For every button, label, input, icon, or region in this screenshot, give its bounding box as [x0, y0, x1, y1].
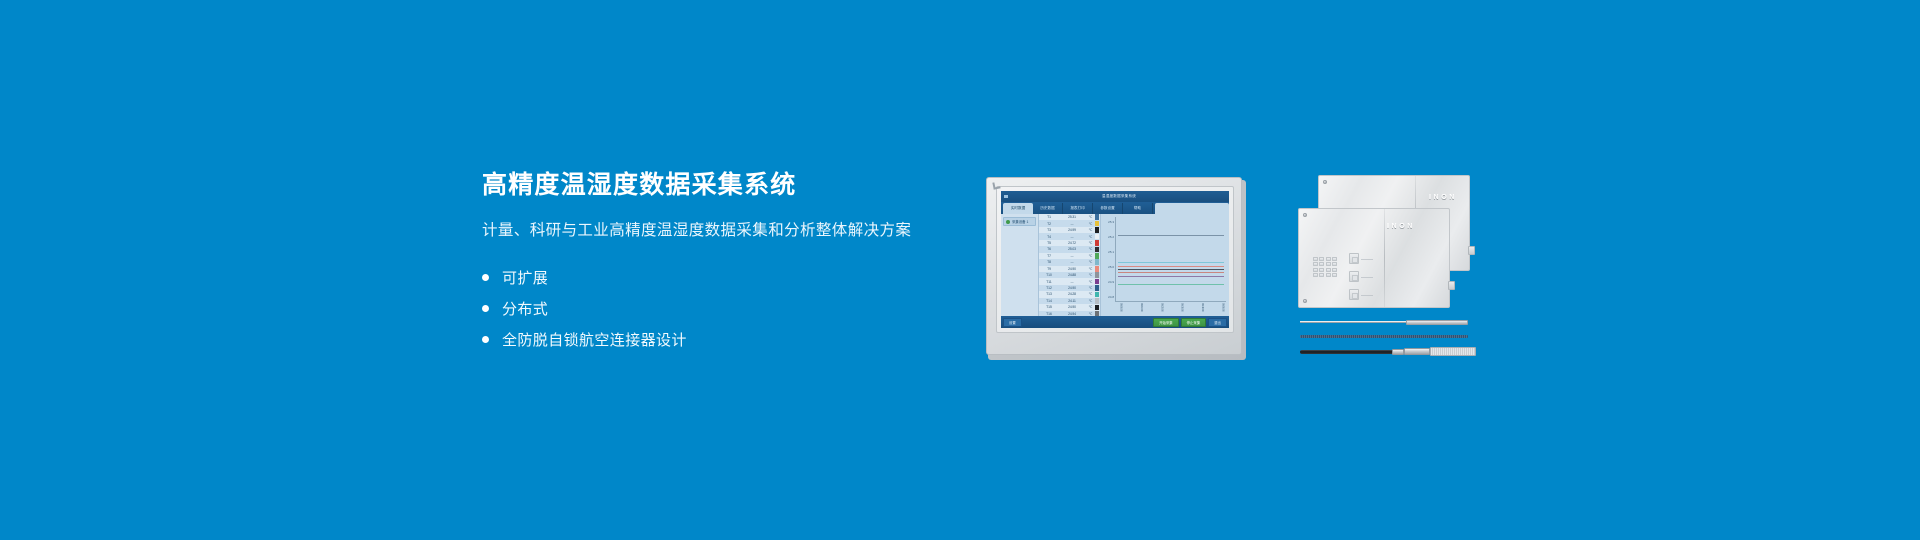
channel-unit: ℃: [1086, 235, 1095, 239]
channel-unit: ℃: [1086, 228, 1095, 232]
channel-color-swatch: [1095, 221, 1099, 227]
channel-unit: ℃: [1086, 286, 1095, 290]
device-status-icon: [1006, 220, 1010, 224]
tab-help[interactable]: 帮助: [1123, 203, 1153, 214]
cable-ferrule: [1392, 349, 1404, 355]
port-text-label: [1361, 295, 1373, 296]
connector-cell: [1332, 273, 1337, 277]
chart-series-line: [1118, 235, 1224, 236]
device-tree-label: 采集设备 1: [1012, 219, 1028, 224]
channel-name: T11: [1040, 280, 1058, 284]
chart-y-tick-label: 24.9: [1108, 280, 1114, 284]
channel-unit: ℃: [1086, 280, 1095, 284]
chart-x-axis: 09:00:0009:10:0009:20:0009:30:0009:40:00…: [1115, 302, 1226, 316]
channel-unit: ℃: [1086, 267, 1095, 271]
brand-logo-back: INON: [1429, 194, 1457, 201]
exit-button[interactable]: 退出: [1208, 318, 1227, 327]
connector-cell: [1319, 273, 1324, 277]
connector-cell: [1326, 262, 1331, 266]
channel-color-swatch: [1095, 279, 1099, 285]
chart-series-line: [1118, 284, 1224, 285]
monitor-brand-mark-icon: [992, 181, 1000, 189]
channel-value: 24.99: [1058, 228, 1086, 232]
cable-shaft: [1300, 350, 1396, 354]
channel-value: ---: [1058, 222, 1086, 226]
channel-value: 24.28: [1058, 292, 1086, 296]
connector-cell: [1313, 273, 1318, 277]
channel-unit: ℃: [1086, 273, 1095, 277]
monitor-screen: 温湿度数据采集系统 实时数据 历史数据 报表打印 参数设置 帮助: [1001, 191, 1229, 328]
probe-tip: [1406, 320, 1468, 325]
channel-unit: ℃: [1086, 299, 1095, 303]
settings-button[interactable]: 设置: [1003, 318, 1022, 327]
connector-cell: [1313, 262, 1318, 266]
channel-name: T2: [1040, 222, 1058, 226]
connector-cell: [1332, 268, 1337, 272]
channel-unit: ℃: [1086, 305, 1095, 309]
channel-value: ---: [1058, 260, 1086, 264]
aviation-port: [1349, 253, 1359, 264]
humidity-probe-with-connector: [1300, 347, 1476, 357]
channel-name: T3: [1040, 228, 1058, 232]
tab-report-print[interactable]: 报表打印: [1063, 203, 1093, 214]
connector-cell: [1319, 268, 1324, 272]
connector-cell: [1319, 262, 1324, 266]
channel-color-swatch: [1095, 285, 1099, 291]
aviation-port: [1349, 271, 1359, 282]
chart-series-line: [1118, 272, 1224, 273]
chart-y-tick-label: 25.2: [1108, 235, 1114, 239]
channel-value: 25.03: [1058, 247, 1086, 251]
channel-name: T1: [1040, 215, 1058, 219]
chart-x-tick-label: 09:40:00: [1201, 303, 1205, 312]
connector-cell: [1313, 257, 1318, 261]
channel-color-swatch: [1095, 292, 1099, 298]
chart-x-tick-label: 09:00:00: [1119, 303, 1123, 312]
app-status-bar: 设置 开始采集 停止采集 退出: [1001, 316, 1229, 328]
chart-y-axis: 25.325.225.125.024.924.8: [1101, 217, 1115, 302]
chart-y-tick-label: 25.1: [1108, 250, 1114, 254]
connector-cell: [1332, 257, 1337, 261]
channel-value: 24.11: [1058, 299, 1086, 303]
connector-cell: [1319, 257, 1324, 261]
device-group: INON INON: [1298, 175, 1488, 370]
channel-name: T14: [1040, 299, 1058, 303]
probe-shaft: [1300, 321, 1410, 323]
connector-collar: [1404, 348, 1430, 355]
aviation-port: [1349, 289, 1359, 300]
channel-unit: ℃: [1086, 241, 1095, 245]
channel-unit: ℃: [1086, 254, 1095, 258]
brand-logo-front: INON: [1387, 223, 1415, 230]
chart-series-line: [1118, 266, 1224, 267]
page-title: 高精度温湿度数据采集系统: [482, 172, 952, 200]
channel-name: T10: [1040, 273, 1058, 277]
tab-realtime-data[interactable]: 实时数据: [1003, 203, 1033, 214]
monitor-housing: 温湿度数据采集系统 实时数据 历史数据 报表打印 参数设置 帮助: [986, 177, 1242, 355]
channel-value: 24.72: [1058, 241, 1086, 245]
chart-x-tick-label: 09:30:00: [1181, 303, 1185, 312]
channel-color-swatch: [1095, 234, 1099, 240]
channel-name: T7: [1040, 254, 1058, 258]
channel-name: T12: [1040, 286, 1058, 290]
aviation-port-inner: [1352, 275, 1358, 281]
aviation-port-inner: [1352, 293, 1358, 299]
channel-unit: ℃: [1086, 292, 1095, 296]
channel-color-swatch: [1095, 214, 1099, 220]
channel-color-swatch: [1095, 259, 1099, 265]
system-menu-icon[interactable]: [1004, 195, 1008, 198]
bullet-dot-icon: [482, 305, 489, 312]
feature-item-2: 全防脱自锁航空连接器设计: [482, 324, 952, 355]
channel-color-swatch: [1095, 266, 1099, 272]
stop-acquisition-button[interactable]: 停止采集: [1181, 318, 1207, 327]
channel-name: T6: [1040, 247, 1058, 251]
feature-label: 全防脱自锁航空连接器设计: [502, 329, 687, 350]
feature-label: 可扩展: [502, 267, 548, 288]
channel-color-swatch: [1095, 305, 1099, 311]
channel-name: T9: [1040, 267, 1058, 271]
channel-color-swatch: [1095, 253, 1099, 259]
braided-sensor-cable: [1300, 334, 1468, 339]
connector-pin-grid: [1313, 257, 1337, 277]
feature-list: 可扩展 分布式 全防脱自锁航空连接器设计: [482, 262, 952, 355]
channel-value: ---: [1058, 235, 1086, 239]
channel-color-swatch: [1095, 227, 1099, 233]
chart-x-tick-label: 09:20:00: [1160, 303, 1164, 312]
stainless-temperature-probe: [1300, 319, 1468, 325]
feature-item-0: 可扩展: [482, 262, 952, 293]
feature-item-1: 分布式: [482, 293, 952, 324]
app-tab-bar: 实时数据 历史数据 报表打印 参数设置 帮助: [1001, 202, 1229, 214]
chart-y-tick-label: 25.0: [1108, 265, 1114, 269]
trend-chart: 25.325.225.125.024.924.8 09:00:0009:10:0…: [1101, 214, 1229, 316]
channel-color-swatch: [1095, 272, 1099, 278]
screw-icon: [1303, 299, 1307, 303]
channel-color-swatch: [1095, 247, 1099, 253]
chart-plot-area: [1115, 217, 1226, 302]
port-text-label: [1361, 259, 1373, 260]
channel-value: 24.88: [1058, 273, 1086, 277]
port-text-label: [1361, 277, 1373, 278]
page-subtitle: 计量、科研与工业高精度温湿度数据采集和分析整体解决方案: [482, 222, 952, 241]
connector-cell: [1326, 268, 1331, 272]
chart-y-tick-label: 25.3: [1108, 220, 1114, 224]
channel-value: 24.90: [1058, 286, 1086, 290]
screw-icon: [1303, 213, 1307, 217]
start-acquisition-button[interactable]: 开始采集: [1153, 318, 1179, 327]
monitor-bezel: 温湿度数据采集系统 实时数据 历史数据 报表打印 参数设置 帮助: [996, 186, 1234, 333]
connector-cell: [1332, 262, 1337, 266]
channel-value: ---: [1058, 280, 1086, 284]
channel-name: T5: [1040, 241, 1058, 245]
chart-series-line: [1118, 269, 1224, 270]
channel-value: 24.90: [1058, 267, 1086, 271]
monitor-chin: [996, 335, 1234, 351]
app-body: 采集设备 1 T125.31℃T2---℃T324.99℃T4---℃T524.…: [1001, 214, 1229, 316]
app-window-title: 温湿度数据采集系统: [1012, 194, 1226, 199]
bullet-dot-icon: [482, 336, 489, 343]
enclosure-seam: [1384, 209, 1385, 307]
bullet-dot-icon: [482, 274, 489, 281]
channel-value: 24.90: [1058, 305, 1086, 309]
channel-color-swatch: [1095, 298, 1099, 304]
device-tree-panel: 采集设备 1: [1001, 214, 1039, 316]
channel-name: T8: [1040, 260, 1058, 264]
channel-unit: ℃: [1086, 215, 1095, 219]
channel-unit: ℃: [1086, 222, 1095, 226]
channel-color-swatch: [1095, 240, 1099, 246]
channel-value: 25.31: [1058, 215, 1086, 219]
banner-text-block: 高精度温湿度数据采集系统 计量、科研与工业高精度温湿度数据采集和分析整体解决方案…: [482, 172, 952, 355]
feature-label: 分布式: [502, 298, 548, 319]
chart-series-line: [1118, 262, 1224, 263]
channel-unit: ℃: [1086, 247, 1095, 251]
tab-settings[interactable]: 参数设置: [1093, 203, 1123, 214]
channel-name: T4: [1040, 235, 1058, 239]
side-connector: [1448, 281, 1455, 290]
tab-history-data[interactable]: 历史数据: [1033, 203, 1063, 214]
connector-cell: [1313, 268, 1318, 272]
connector-cell: [1326, 257, 1331, 261]
channel-value-table[interactable]: T125.31℃T2---℃T324.99℃T4---℃T524.72℃T625…: [1039, 214, 1101, 316]
chart-x-tick-label: 09:50:00: [1222, 303, 1226, 312]
aviation-port-inner: [1352, 257, 1358, 263]
channel-name: T15: [1040, 305, 1058, 309]
chart-series-line: [1118, 276, 1224, 277]
device-tree-root[interactable]: 采集设备 1: [1003, 217, 1036, 226]
channel-name: T13: [1040, 292, 1058, 296]
front-enclosure: INON: [1298, 208, 1450, 308]
screw-icon: [1323, 180, 1327, 184]
channel-unit: ℃: [1086, 260, 1095, 264]
chart-x-tick-label: 09:10:00: [1140, 303, 1144, 312]
cable-shaft: [1300, 335, 1468, 338]
product-banner: 高精度温湿度数据采集系统 计量、科研与工业高精度温湿度数据采集和分析整体解决方案…: [0, 0, 1920, 540]
industrial-panel-monitor: 温湿度数据采集系统 实时数据 历史数据 报表打印 参数设置 帮助: [986, 177, 1248, 363]
connector-cell: [1326, 273, 1331, 277]
tab-bar-filler: [1155, 203, 1229, 214]
app-titlebar: 温湿度数据采集系统: [1001, 191, 1229, 202]
channel-value: ---: [1058, 254, 1086, 258]
chart-y-tick-label: 24.8: [1108, 295, 1114, 299]
side-connector: [1468, 246, 1475, 255]
sensor-housing: [1430, 347, 1476, 356]
